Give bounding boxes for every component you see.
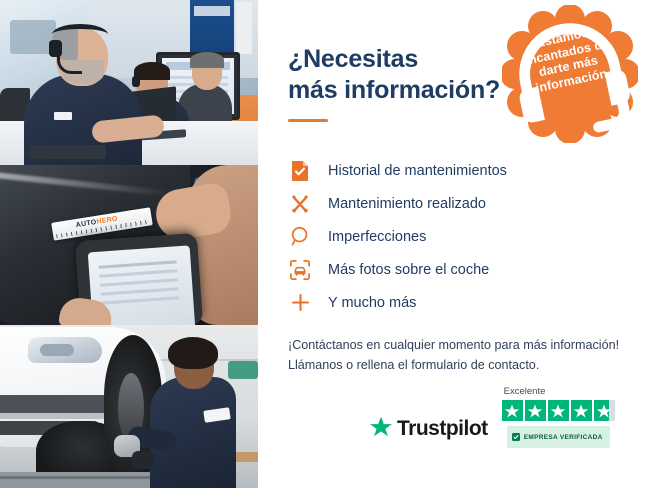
paragraph-line-1: ¡Contáctanos en cualquier momento para m… bbox=[288, 338, 619, 352]
heading-line-2: más información? bbox=[288, 76, 500, 104]
feature-list: Historial de mantenimientos Mantenimient… bbox=[288, 154, 626, 319]
paragraph-line-2: Llámanos o rellena el formulario de cont… bbox=[288, 358, 539, 372]
car-headlight bbox=[28, 337, 102, 363]
person-3-hair bbox=[190, 52, 224, 68]
plus-icon bbox=[288, 291, 312, 315]
content-panel: Estamos encantados de darte más informac… bbox=[258, 0, 650, 488]
trustpilot-widget[interactable]: Trustpilot Excelente bbox=[370, 386, 615, 448]
star-icon bbox=[502, 400, 523, 421]
trustpilot-logo[interactable]: Trustpilot bbox=[370, 416, 488, 448]
wall-poster-white bbox=[236, 2, 252, 54]
car-grille-upper bbox=[0, 395, 118, 415]
mechanic-hair bbox=[168, 337, 218, 369]
star-icon-partial bbox=[594, 400, 615, 421]
person-1-name-badge bbox=[54, 112, 72, 120]
page-title: ¿Necesitas más información? bbox=[288, 44, 518, 105]
info-banner: AUTOHERO bbox=[0, 0, 650, 488]
feature-label: Mantenimiento realizado bbox=[328, 196, 486, 212]
verified-label: EMPRESA VERIFICADA bbox=[524, 434, 603, 441]
list-item: Mantenimiento realizado bbox=[288, 187, 626, 220]
feature-label: Más fotos sobre el coche bbox=[328, 262, 489, 278]
list-item: Y mucho más bbox=[288, 286, 626, 319]
star-icon bbox=[525, 400, 546, 421]
feature-label: Y mucho más bbox=[328, 295, 416, 311]
keyboard bbox=[30, 145, 106, 159]
star-icon bbox=[548, 400, 569, 421]
trustpilot-rating: Excelente bbox=[502, 386, 615, 448]
list-item: Historial de mantenimientos bbox=[288, 154, 626, 187]
trustpilot-wordmark: Trustpilot bbox=[397, 417, 488, 441]
rating-label: Excelente bbox=[504, 386, 546, 397]
heading-divider bbox=[288, 119, 328, 122]
check-square-icon bbox=[512, 428, 520, 446]
person-2-headset bbox=[132, 76, 140, 87]
list-item: Imperfecciones bbox=[288, 220, 626, 253]
wall-hose bbox=[228, 361, 258, 379]
heading-line-1: ¿Necesitas bbox=[288, 45, 418, 73]
photo-body-inspection: AUTOHERO bbox=[0, 165, 258, 325]
list-item: Más fotos sobre el coche bbox=[288, 253, 626, 286]
car-lift-ramp bbox=[0, 472, 160, 488]
status-badge: EMPRESA VERIFICADA bbox=[507, 426, 610, 448]
photo-collage: AUTOHERO bbox=[0, 0, 258, 488]
clipboard-check-icon bbox=[288, 159, 312, 183]
promo-badge: Estamos encantados de darte más informac… bbox=[502, 5, 638, 143]
feature-label: Historial de mantenimientos bbox=[328, 163, 507, 179]
ruler-brand-text: AUTOHERO bbox=[75, 216, 118, 230]
star-icon bbox=[571, 400, 592, 421]
magnifier-icon bbox=[288, 225, 312, 249]
tools-cross-icon bbox=[288, 192, 312, 216]
feature-label: Imperfecciones bbox=[328, 229, 426, 245]
car-chrome-trim bbox=[0, 413, 110, 419]
mechanic-glove-right bbox=[132, 451, 154, 469]
car-scan-icon bbox=[288, 258, 312, 282]
photo-mechanic-wheel bbox=[0, 325, 258, 488]
photo-call-center-agent bbox=[0, 0, 258, 165]
contact-paragraph: ¡Contáctanos en cualquier momento para m… bbox=[288, 335, 626, 376]
star-rating bbox=[502, 400, 615, 421]
trustpilot-star-icon bbox=[370, 416, 392, 442]
